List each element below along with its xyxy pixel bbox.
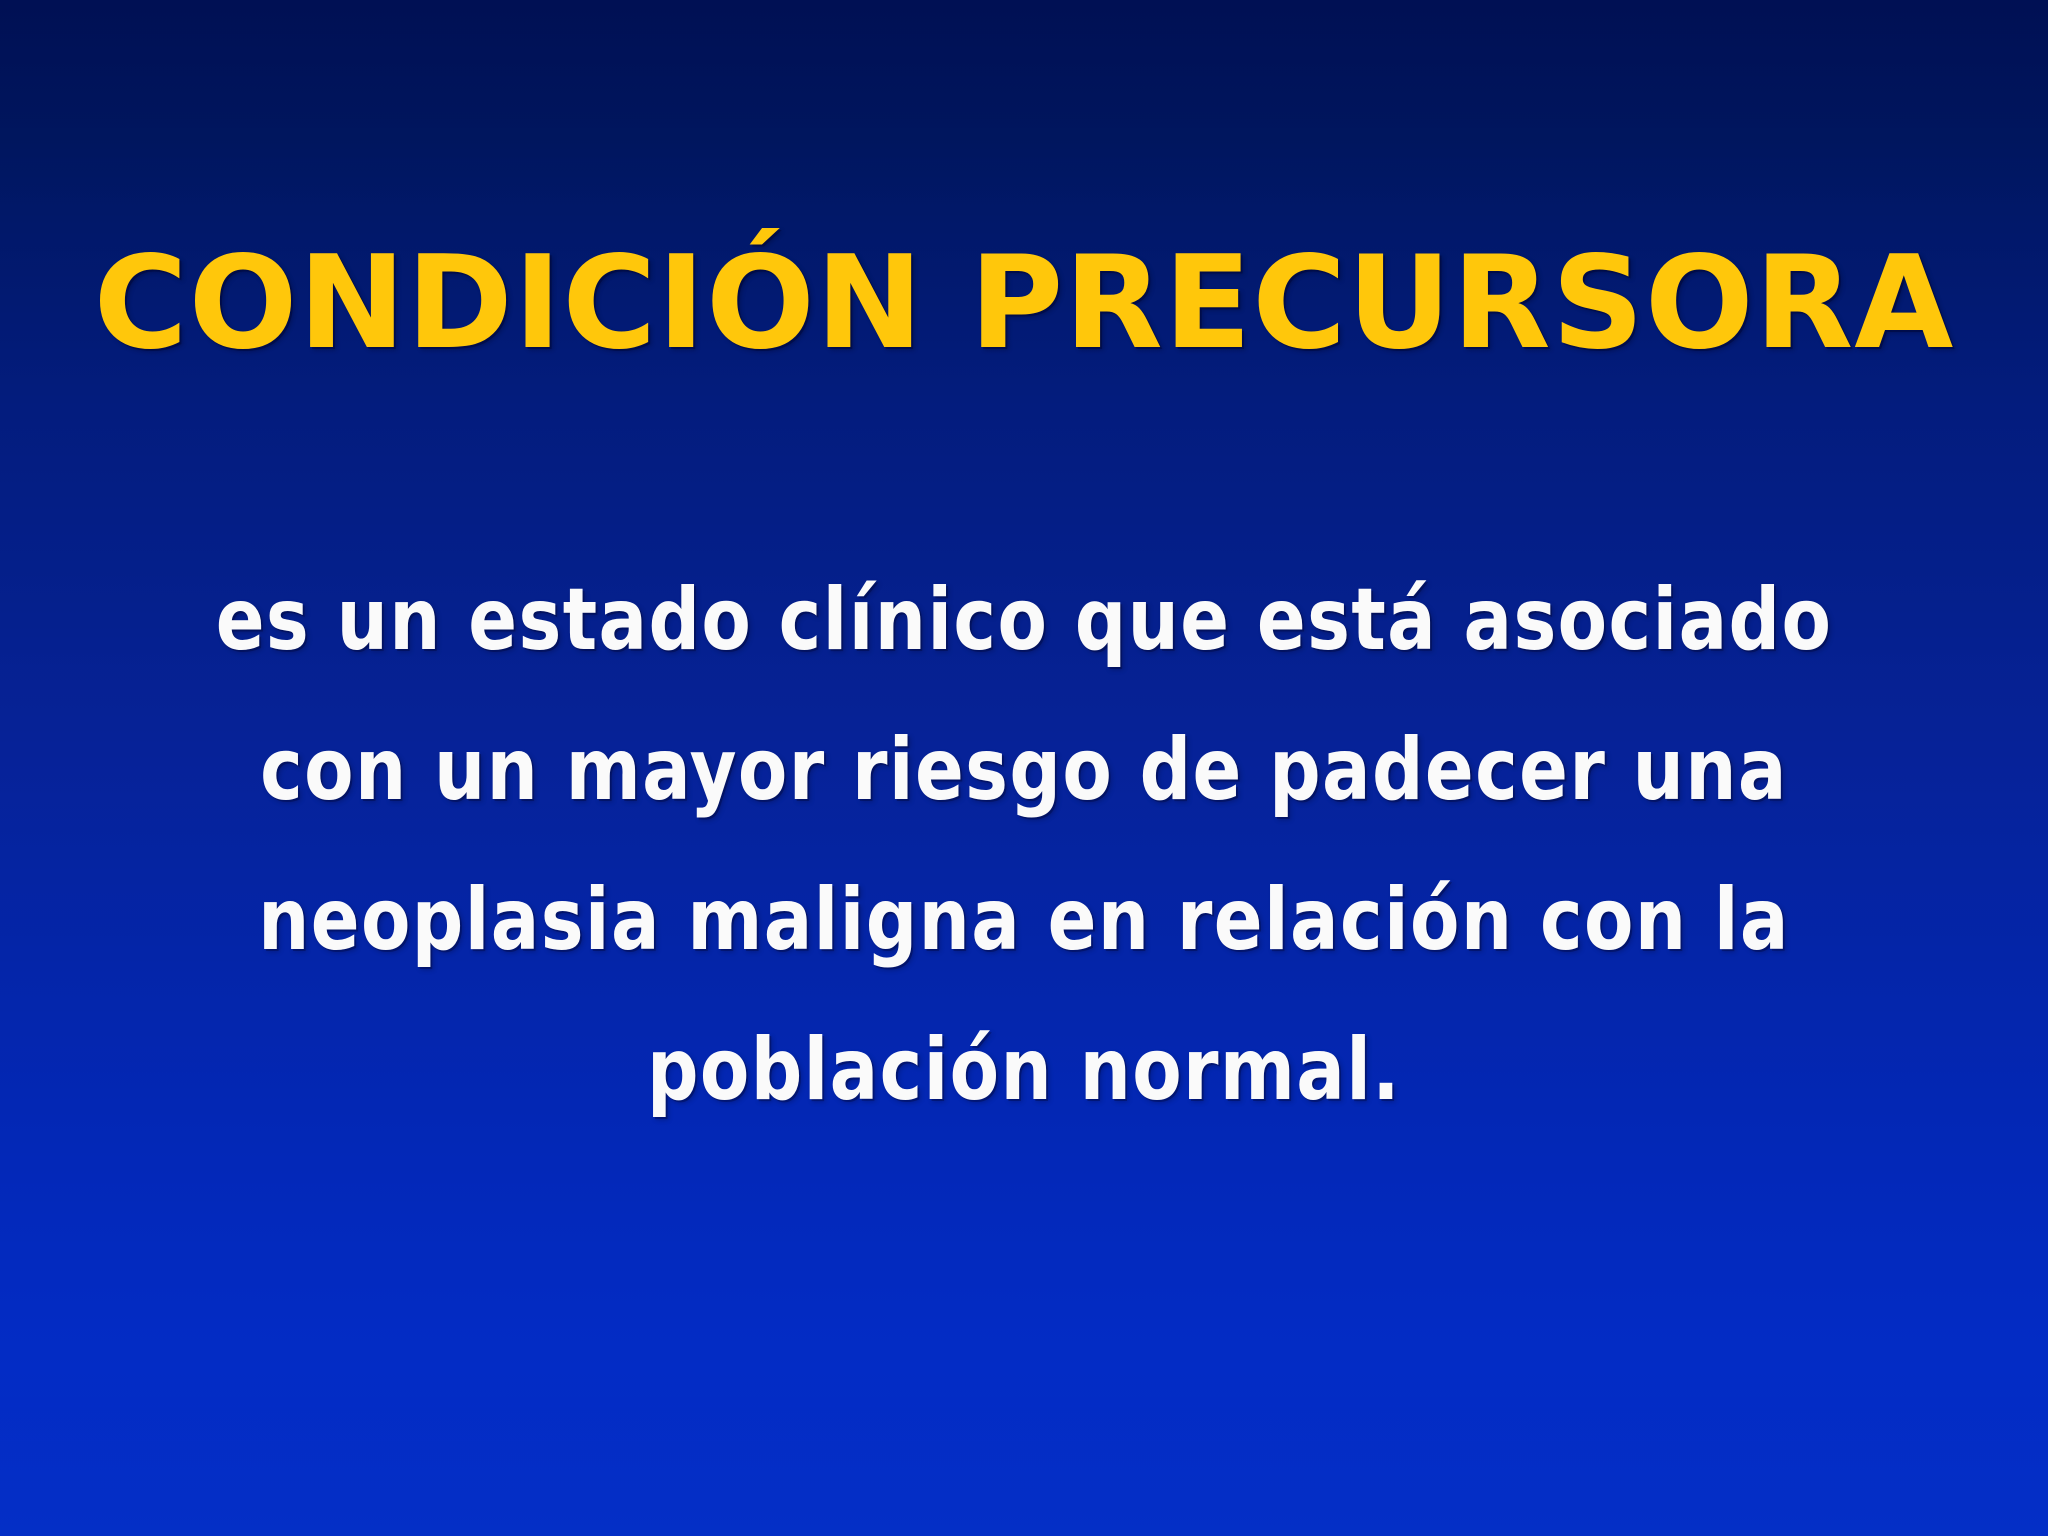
page-title: CONDICIÓN PRECURSORA xyxy=(94,236,1955,372)
body-text-line-4: población normal. xyxy=(72,995,1977,1145)
presentation-slide: CONDICIÓN PRECURSORA es un estado clínic… xyxy=(0,0,2048,1536)
body-text-line-1: es un estado clínico que está asociado xyxy=(72,545,1977,695)
body-text-line-3: neoplasia maligna en relación con la xyxy=(72,845,1977,995)
slide-body-container: es un estado clínico que está asociado c… xyxy=(0,545,2048,1145)
body-text-line-2: con un mayor riesgo de padecer una xyxy=(72,695,1977,845)
slide-title-container: CONDICIÓN PRECURSORA xyxy=(0,236,2048,372)
